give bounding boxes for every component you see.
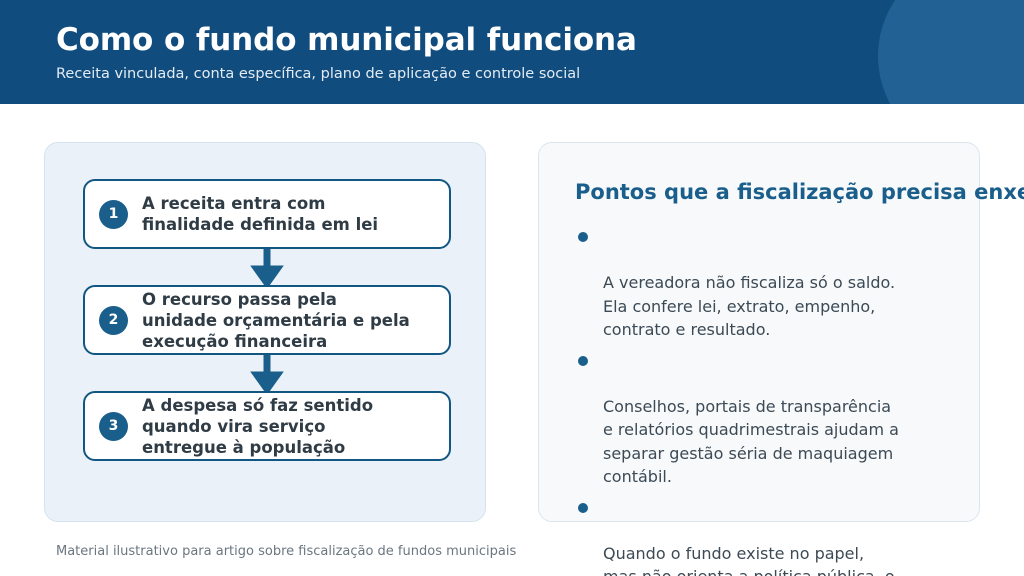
bullet-icon bbox=[578, 503, 588, 513]
flow-panel: 1 A receita entra com finalidade definid… bbox=[44, 142, 486, 522]
bullet-icon bbox=[578, 356, 588, 366]
header-text-group: Como o fundo municipal funciona Receita … bbox=[56, 21, 637, 84]
step-label: A receita entra com finalidade definida … bbox=[142, 193, 437, 235]
arrow-down-icon bbox=[239, 249, 295, 285]
flow-step-1: 1 A receita entra com finalidade definid… bbox=[83, 179, 451, 249]
page-title: Como o fundo municipal funciona bbox=[56, 21, 637, 59]
flow-step-3: 3 A despesa só faz sentido quando vira s… bbox=[83, 391, 451, 461]
list-item-text: A vereadora não fiscaliza só o saldo. El… bbox=[603, 273, 895, 339]
flow-step-2: 2 O recurso passa pela unidade orçamentá… bbox=[83, 285, 451, 355]
list-item-text: Quando o fundo existe no papel, mas não … bbox=[603, 544, 895, 576]
list-item: Conselhos, portais de transparência e re… bbox=[575, 348, 947, 489]
notes-list: A vereadora não fiscaliza só o saldo. El… bbox=[575, 224, 947, 576]
flow-steps-container: 1 A receita entra com finalidade definid… bbox=[83, 179, 451, 461]
step-number-badge: 2 bbox=[99, 306, 128, 335]
notes-title: Pontos que a fiscalização precisa enxerg… bbox=[575, 179, 1024, 206]
step-number-badge: 3 bbox=[99, 412, 128, 441]
flow-connector-1-2 bbox=[83, 249, 451, 285]
footer-caption: Material ilustrativo para artigo sobre f… bbox=[56, 543, 516, 561]
step-label: A despesa só faz sentido quando vira ser… bbox=[142, 395, 437, 458]
step-number-badge: 1 bbox=[99, 200, 128, 229]
list-item: A vereadora não fiscaliza só o saldo. El… bbox=[575, 224, 947, 342]
flow-connector-2-3 bbox=[83, 355, 451, 391]
decorative-circle-icon bbox=[878, 0, 1024, 104]
notes-panel: Pontos que a fiscalização precisa enxerg… bbox=[538, 142, 980, 522]
bullet-icon bbox=[578, 232, 588, 242]
notes-container: Pontos que a fiscalização precisa enxerg… bbox=[575, 179, 1024, 576]
slide-canvas: Como o fundo municipal funciona Receita … bbox=[0, 0, 1024, 576]
step-label: O recurso passa pela unidade orçamentári… bbox=[142, 289, 437, 352]
list-item-text: Conselhos, portais de transparência e re… bbox=[603, 397, 899, 487]
list-item: Quando o fundo existe no papel, mas não … bbox=[575, 495, 947, 576]
header-bar: Como o fundo municipal funciona Receita … bbox=[0, 0, 1024, 104]
arrow-down-icon bbox=[239, 355, 295, 391]
page-subtitle: Receita vinculada, conta específica, pla… bbox=[56, 65, 637, 84]
